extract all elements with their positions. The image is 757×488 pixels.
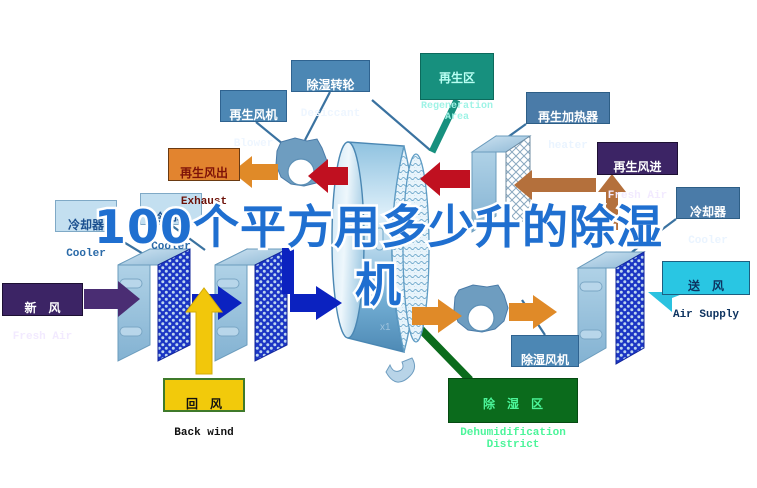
label-dehumidification-district: 除 湿 区 Dehumidification District	[448, 378, 578, 423]
arrow-regen-hot-2	[420, 162, 470, 196]
overlay-headline: 100个平方用多少升的除湿 机	[0, 198, 757, 314]
label-regeneration-area: 再生区 Regeneration Area	[420, 53, 494, 100]
svg-text:x1: x1	[380, 322, 391, 333]
overlay-headline-line2: 机	[0, 256, 757, 314]
label-dehumidification-blower: 除湿风机 Blower	[511, 335, 579, 367]
label-back-wind: 回 风 Back wind	[163, 378, 245, 412]
label-desiccant-rotor: 除湿转轮 Desiccant	[291, 60, 370, 92]
label-regeneration-blower: 再生风机 Blower	[220, 90, 287, 122]
label-regeneration-heater: 再生加热器 heater	[526, 92, 610, 124]
diagram-canvas: x1	[0, 0, 757, 488]
label-exhaust: 再生风出 Exhaust	[168, 148, 240, 181]
overlay-headline-line1: 100个平方用多少升的除湿	[0, 198, 757, 256]
label-regeneration-fresh-air: 再生风进 Fresh Air	[597, 142, 678, 175]
